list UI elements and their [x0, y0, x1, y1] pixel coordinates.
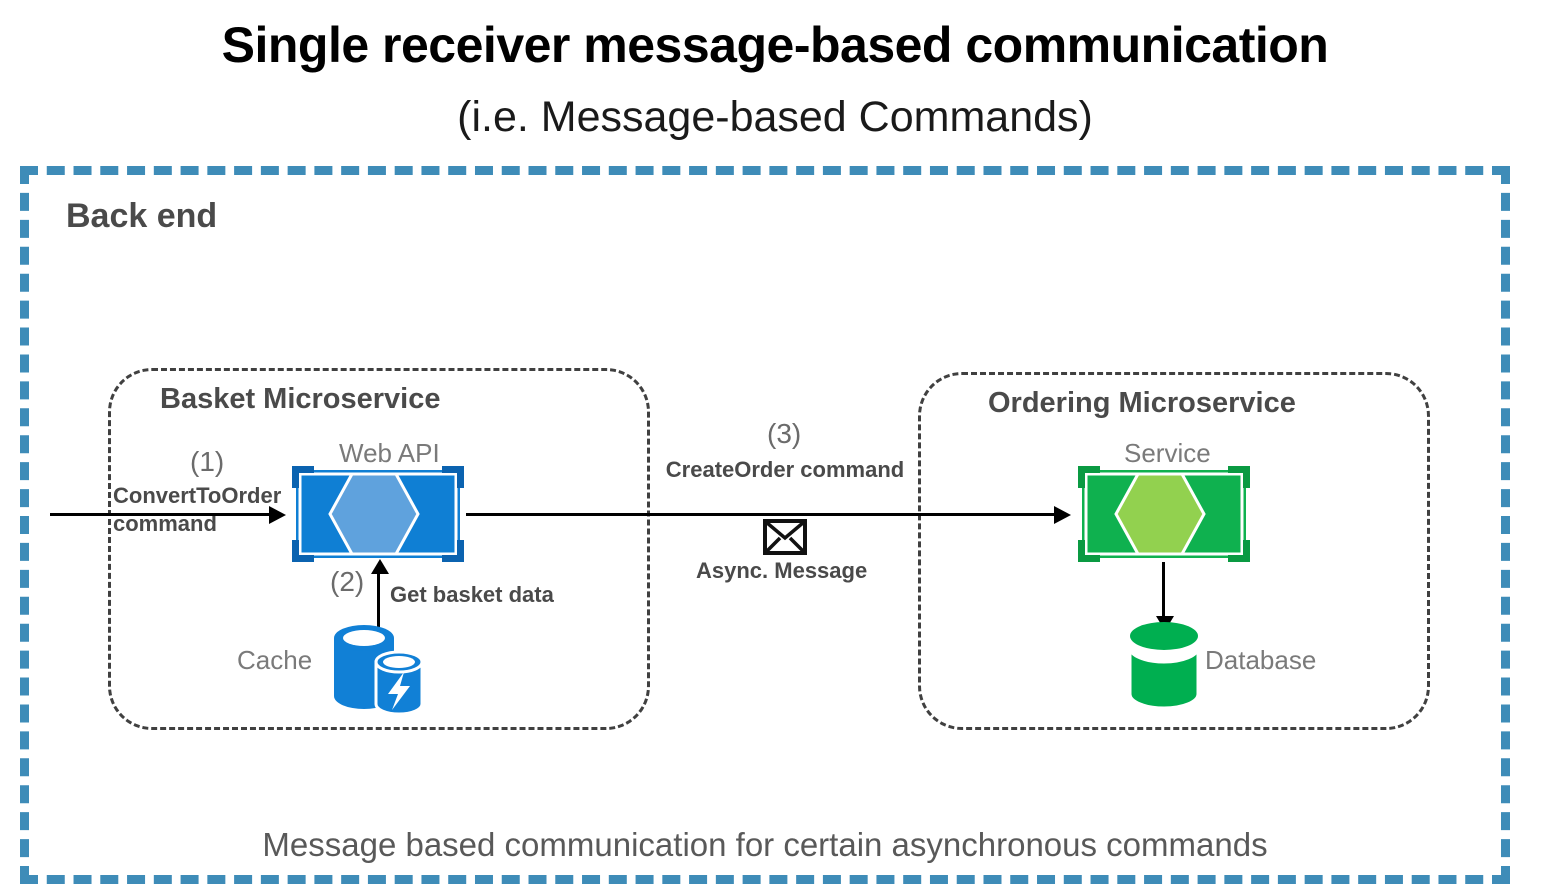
database-caption: Database: [1205, 645, 1316, 676]
backend-caption: Message based communication for certain …: [20, 826, 1510, 864]
arrow-create-order-line: [466, 513, 1058, 516]
service-icon: [1078, 466, 1250, 562]
cache-caption: Cache: [237, 645, 312, 676]
ordering-microservice-title: Ordering Microservice: [988, 387, 1296, 420]
convert-to-order-line-1: ConvertToOrder: [113, 482, 281, 510]
async-message-label: Async. Message: [696, 557, 867, 585]
backend-label: Back end: [66, 197, 217, 236]
step-number-2: (2): [330, 566, 364, 598]
convert-to-order-label: ConvertToOrder command: [113, 482, 281, 537]
service-caption: Service: [1124, 438, 1211, 469]
envelope-icon: [763, 519, 807, 555]
diagram-canvas: Single receiver message-based communicat…: [0, 0, 1550, 894]
page-title: Single receiver message-based communicat…: [0, 18, 1550, 73]
database-cylinder-icon: [1126, 620, 1202, 712]
create-order-command-label: CreateOrder command: [660, 456, 910, 484]
basket-microservice-title: Basket Microservice: [160, 383, 441, 416]
arrow-convert-to-order-line: [50, 513, 273, 516]
arrow-create-order-head: [1054, 506, 1071, 524]
web-api-caption: Web API: [339, 438, 440, 469]
cache-database-icon: [330, 622, 428, 718]
web-api-service-icon: [292, 466, 464, 562]
arrow-convert-to-order-head: [269, 506, 286, 524]
step-number-3: (3): [767, 418, 801, 450]
step-number-1: (1): [190, 446, 224, 478]
page-subtitle: (i.e. Message-based Commands): [0, 94, 1550, 141]
get-basket-data-label: Get basket data: [390, 581, 554, 609]
